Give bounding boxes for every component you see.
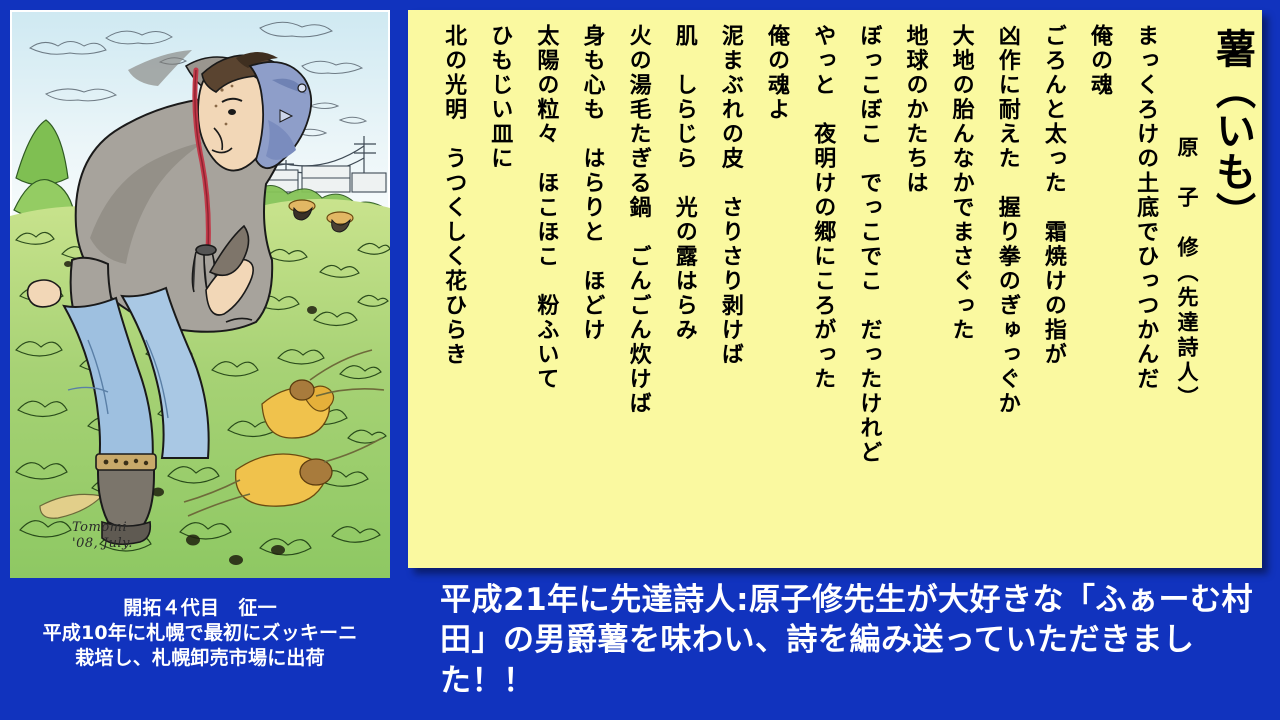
illustration-artwork — [10, 10, 390, 578]
bottom-caption: 平成21年に先達詩人:原子修先生が大好きな「ふぁーむ村田」の男爵薯を味わい、詩を… — [440, 580, 1278, 701]
poem-line-13: 身も心も はらりと ほどけ — [556, 24, 602, 554]
left-caption-line-1: 開拓４代目 征一 — [0, 596, 400, 621]
poem-panel: 薯（いも） 原 子 修（先達詩人） まっくろけの土底でひっつかんだ 俺の魂 ごろ… — [408, 10, 1262, 568]
poem-line-12: 火の湯毛たぎる鍋 ごんごん炊けば — [602, 24, 648, 554]
poem-line-11: 肌 しらじら 光の露はらみ — [649, 24, 695, 554]
poem-line-6: 地球のかたちは — [879, 24, 925, 554]
left-caption: 開拓４代目 征一 平成10年に札幌で最初にズッキーニ 栽培し、札幌卸売市場に出荷 — [0, 596, 400, 671]
poem-line-4: 凶作に耐えた 握り拳のぎゅっぐか — [972, 24, 1018, 554]
poem-line-10: 泥まぶれの皮 さりさり剥けば — [695, 24, 741, 554]
left-caption-line-3: 栽培し、札幌卸売市場に出荷 — [0, 646, 400, 671]
poem-line-2: 俺の魂 — [1064, 24, 1110, 554]
poem-line-7: ぼっこぼこ でっこでこ だったけれど — [833, 24, 879, 554]
poem-line-1: まっくろけの土底でひっつかんだ — [1110, 24, 1156, 554]
poem-line-5: 大地の胎んなかでまさぐった — [925, 24, 971, 554]
poem-line-15: ひもじい皿に — [464, 24, 510, 554]
poem-columns: 薯（いも） 原 子 修（先達詩人） まっくろけの土底でひっつかんだ 俺の魂 ごろ… — [408, 10, 1262, 568]
poem-line-3: ごろんと太った 霜焼けの指が — [1018, 24, 1064, 554]
poem-line-8: やっと 夜明けの郷にころがった — [787, 24, 833, 554]
poem-line-14: 太陽の粒々 ほこほこ 粉ふいて — [510, 24, 556, 554]
slide-root: Tomomi '08, July. 開拓４代目 征一 平成10年に札幌で最初にズ… — [0, 0, 1280, 720]
poem-line-16: 北の光明 うつくしく花ひらき — [418, 24, 464, 554]
poem-author: 原 子 修（先達詩人） — [1156, 24, 1197, 554]
left-caption-line-2: 平成10年に札幌で最初にズッキーニ — [0, 621, 400, 646]
poem-line-9: 俺の魂よ — [741, 24, 787, 554]
poem-title: 薯（いも） — [1197, 24, 1252, 554]
farm-illustration: Tomomi '08, July. — [10, 10, 390, 578]
